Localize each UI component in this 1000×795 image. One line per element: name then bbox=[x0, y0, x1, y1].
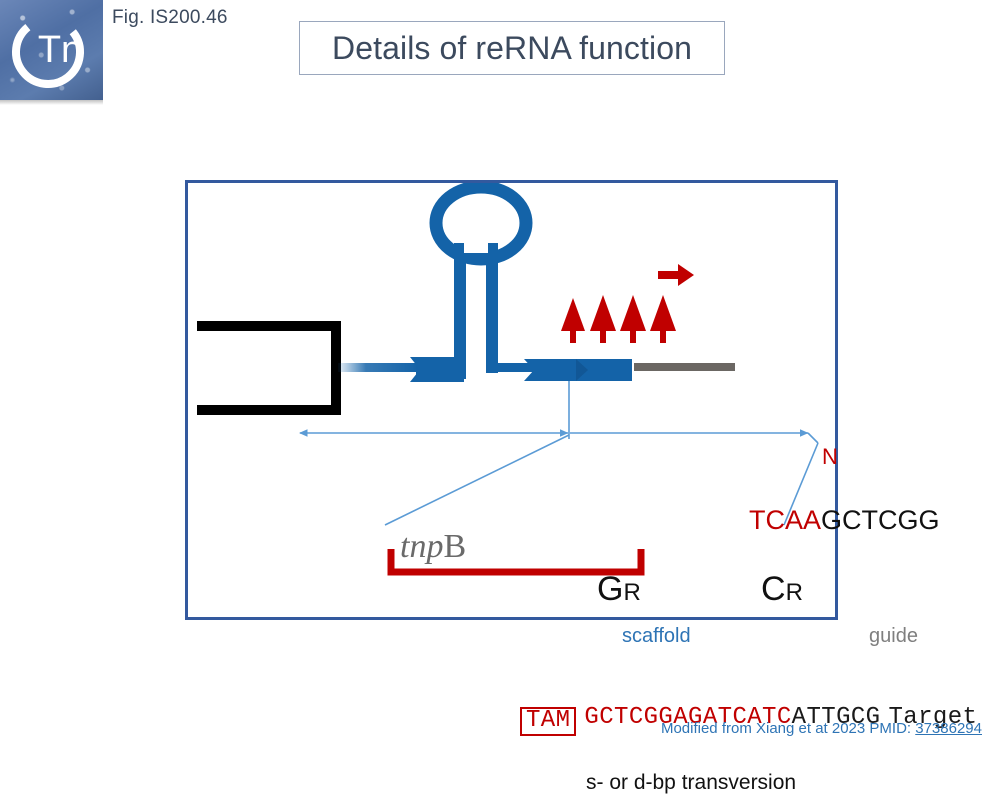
guide-sequence-text: TCAAGCTCGG bbox=[749, 505, 940, 536]
guide-strand bbox=[634, 363, 735, 371]
slide-title-box: Details of reRNA function bbox=[299, 21, 725, 75]
rerna-schematic bbox=[188, 183, 835, 617]
logo-tn-text: Tn bbox=[38, 29, 82, 71]
slide-title: Details of reRNA function bbox=[332, 30, 692, 67]
rna-backbone-mid bbox=[496, 363, 532, 372]
scaffold-span-label: scaffold bbox=[622, 625, 691, 648]
logo-shadow bbox=[0, 100, 103, 105]
cr-repeat-block bbox=[524, 359, 632, 381]
pmid-link[interactable]: 37386294 bbox=[915, 720, 982, 737]
cr-letter: C bbox=[761, 570, 786, 608]
transversion-caption: s- or d-bp transversion bbox=[586, 771, 796, 795]
footer-citation: Modified from Xiang et at 2023 PMID: 373… bbox=[0, 720, 1000, 737]
figure-label: Fig. IS200.46 bbox=[112, 7, 228, 29]
guide-sequence-mutated: TCAA bbox=[749, 505, 821, 535]
diagram-panel: tnpB GR CR TCAAGCTCGG N scaffold guide T… bbox=[185, 180, 838, 620]
gr-letter: G bbox=[597, 570, 623, 608]
ctn-logo: Tn bbox=[0, 0, 103, 100]
gr-label: GR bbox=[597, 570, 641, 609]
cr-subscript: R bbox=[786, 579, 803, 606]
tnpb-plain-part: B bbox=[443, 528, 466, 565]
n-mismatch-marker bbox=[561, 264, 694, 343]
span-arrows bbox=[300, 381, 808, 439]
rna-stem-loop bbox=[436, 187, 526, 379]
n-marker-label: N bbox=[822, 444, 838, 470]
guide-span-label: guide bbox=[869, 625, 918, 648]
ctn-logo-glyph: Tn bbox=[0, 0, 103, 100]
tnpb-gene-label: tnpB bbox=[400, 528, 466, 566]
rna-backbone-left bbox=[338, 363, 418, 372]
cr-label: CR bbox=[761, 570, 803, 609]
gr-subscript: R bbox=[623, 579, 640, 606]
tnpb-gene-box bbox=[197, 326, 336, 410]
footer-text: Modified from Xiang et at 2023 PMID: bbox=[661, 720, 915, 737]
guide-sequence-matched: GCTCGG bbox=[821, 505, 940, 535]
tnpb-italic-part: tnp bbox=[400, 528, 443, 565]
